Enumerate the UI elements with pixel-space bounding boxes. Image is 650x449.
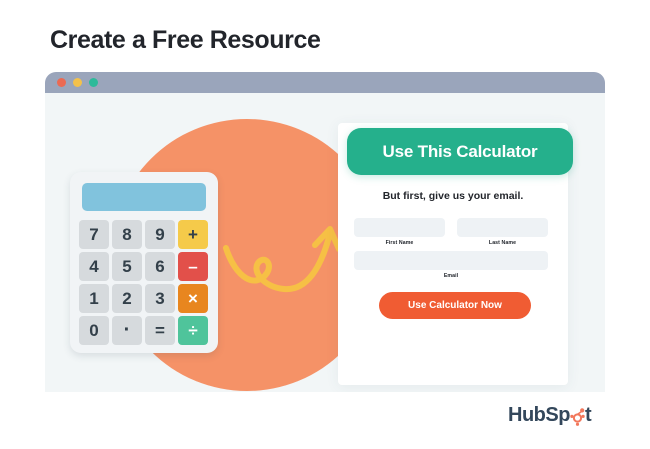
calc-key-divide[interactable]: ÷	[178, 316, 208, 345]
calc-key-equals[interactable]: =	[145, 316, 175, 345]
calc-key-minus[interactable]: –	[178, 252, 208, 281]
calculator-display	[82, 183, 206, 211]
last-name-input[interactable]	[457, 218, 548, 237]
form-header-title: Use This Calculator	[383, 142, 538, 162]
window-maximize-dot-icon[interactable]	[89, 78, 98, 87]
calc-key-plus[interactable]: +	[178, 220, 208, 249]
hubspot-wordmark-hub: HubSp	[508, 404, 570, 427]
calc-key-decimal[interactable]: ·	[112, 316, 142, 345]
submit-button-label: Use Calculator Now	[408, 300, 502, 311]
first-name-field[interactable]: First Name	[354, 218, 445, 246]
calc-key-times[interactable]: ×	[178, 284, 208, 313]
calc-key-9[interactable]: 9	[145, 220, 175, 249]
calc-key-5[interactable]: 5	[112, 252, 142, 281]
calc-key-2[interactable]: 2	[112, 284, 142, 313]
calc-key-7[interactable]: 7	[79, 220, 109, 249]
window-minimize-dot-icon[interactable]	[73, 78, 82, 87]
calc-key-6[interactable]: 6	[145, 252, 175, 281]
browser-titlebar	[45, 72, 605, 93]
hubspot-sprocket-icon	[570, 406, 585, 426]
email-input[interactable]	[354, 251, 548, 270]
last-name-field[interactable]: Last Name	[457, 218, 548, 246]
calc-key-0[interactable]: 0	[79, 316, 109, 345]
browser-window-mock: 7 8 9 + 4 5 6 – 1 2 3 × 0 · = ÷	[45, 72, 607, 392]
calculator-keypad: 7 8 9 + 4 5 6 – 1 2 3 × 0 · = ÷	[79, 220, 209, 345]
curly-arrow-icon	[220, 193, 345, 303]
hubspot-wordmark-tail: t	[585, 404, 591, 427]
last-name-label: Last Name	[457, 240, 548, 246]
browser-content-area: 7 8 9 + 4 5 6 – 1 2 3 × 0 · = ÷	[45, 93, 605, 392]
page-title: Create a Free Resource	[50, 26, 321, 55]
calc-key-4[interactable]: 4	[79, 252, 109, 281]
window-close-dot-icon[interactable]	[57, 78, 66, 87]
hubspot-logo: HubSp t	[508, 404, 591, 427]
first-name-input[interactable]	[354, 218, 445, 237]
use-calculator-now-button[interactable]: Use Calculator Now	[379, 292, 531, 319]
calc-key-1[interactable]: 1	[79, 284, 109, 313]
calc-key-8[interactable]: 8	[112, 220, 142, 249]
calc-key-3[interactable]: 3	[145, 284, 175, 313]
form-header-banner: Use This Calculator	[347, 128, 573, 175]
calculator-illustration: 7 8 9 + 4 5 6 – 1 2 3 × 0 · = ÷	[70, 172, 218, 353]
email-label: Email	[354, 273, 548, 279]
first-name-label: First Name	[354, 240, 445, 246]
email-field[interactable]: Email	[354, 251, 548, 279]
form-subtitle: But first, give us your email.	[338, 190, 568, 202]
